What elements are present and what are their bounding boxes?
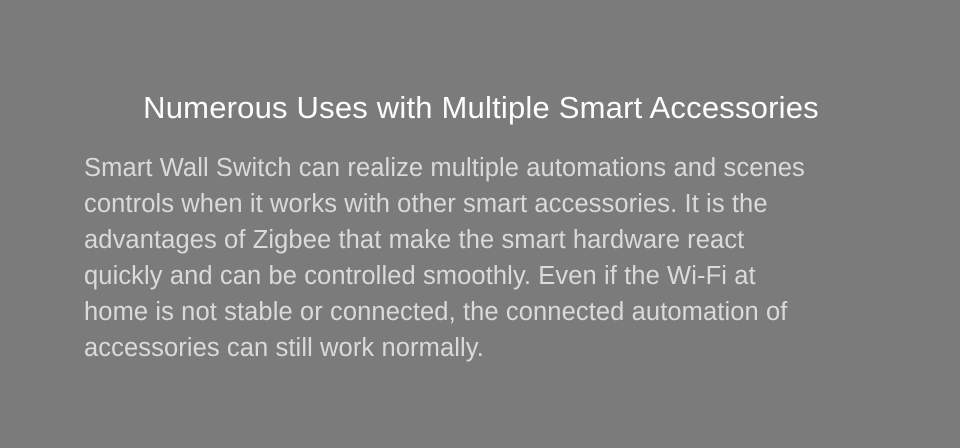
promo-banner: Numerous Uses with Multiple Smart Access… — [0, 0, 960, 448]
page-title: Numerous Uses with Multiple Smart Access… — [84, 86, 878, 130]
paragraph-line: accessories can still work normally. — [84, 330, 878, 366]
paragraph-line: controls when it works with other smart … — [84, 186, 878, 222]
description-paragraph: Smart Wall Switch can realize multiple a… — [84, 130, 878, 366]
paragraph-line: Smart Wall Switch can realize multiple a… — [84, 150, 878, 186]
paragraph-line: advantages of Zigbee that make the smart… — [84, 222, 878, 258]
text-content-block: Numerous Uses with Multiple Smart Access… — [84, 86, 878, 366]
paragraph-line: home is not stable or connected, the con… — [84, 294, 878, 330]
paragraph-line: quickly and can be controlled smoothly. … — [84, 258, 878, 294]
